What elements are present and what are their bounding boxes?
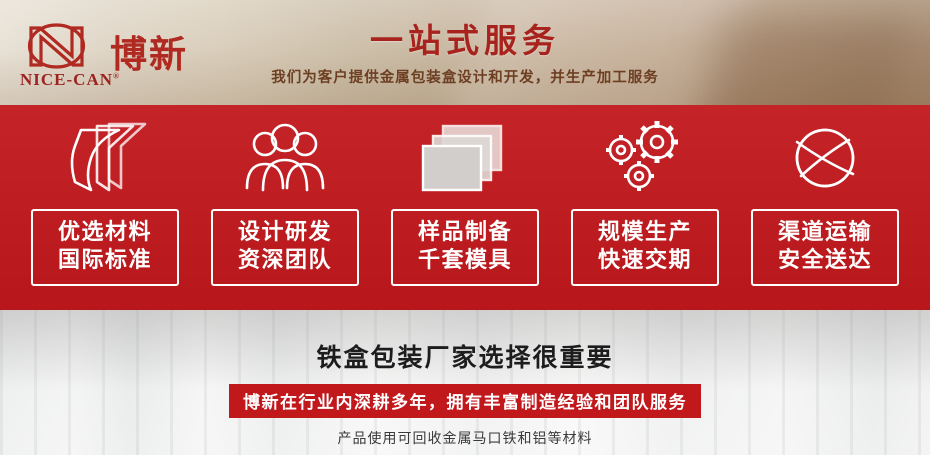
footer-highlight-badge: 博新在行业内深耕多年，拥有丰富制造经验和团队服务: [229, 384, 701, 418]
feature-label-line1: 样品制备: [393, 219, 537, 247]
promo-banner: NICE-CAN® 博新 一站式服务 我们为客户提供金属包装盒设计和开发，并生产…: [0, 0, 930, 455]
feature-item[interactable]: 设计研发 资深团队: [204, 105, 366, 310]
footer-highlight-wrap: 博新在行业内深耕多年，拥有丰富制造经验和团队服务: [0, 384, 930, 418]
feature-item[interactable]: 规模生产 快速交期: [564, 105, 726, 310]
banner-subtitle: 我们为客户提供金属包装盒设计和开发，并生产加工服务: [0, 66, 930, 87]
feature-label-line1: 优选材料: [33, 219, 177, 247]
banner-title: 一站式服务: [0, 14, 930, 62]
feature-label: 优选材料 国际标准: [31, 209, 179, 286]
feature-label: 渠道运输 安全送达: [751, 209, 899, 286]
feature-item[interactable]: 样品制备 千套模具: [384, 105, 546, 310]
feature-label-line2: 国际标准: [33, 247, 177, 275]
feature-label: 样品制备 千套模具: [391, 209, 539, 286]
team-people-icon: [237, 109, 333, 209]
stacked-sheets-icon: [57, 109, 153, 209]
globe-delivery-icon: [777, 109, 873, 209]
features-band: 优选材料 国际标准: [0, 105, 930, 310]
footer-band: 铁盒包装厂家选择很重要 博新在行业内深耕多年，拥有丰富制造经验和团队服务 产品使…: [0, 310, 930, 455]
feature-label: 设计研发 资深团队: [211, 209, 359, 286]
stacked-boxes-icon: [413, 109, 517, 209]
feature-label-line2: 资深团队: [213, 247, 357, 275]
header-band: NICE-CAN® 博新 一站式服务 我们为客户提供金属包装盒设计和开发，并生产…: [0, 0, 930, 105]
feature-label-line2: 快速交期: [573, 247, 717, 275]
feature-label-line2: 千套模具: [393, 247, 537, 275]
features-row: 优选材料 国际标准: [0, 105, 930, 310]
footer-note: 产品使用可回收金属马口铁和铝等材料: [0, 428, 930, 448]
feature-label-line2: 安全送达: [753, 247, 897, 275]
feature-label-line1: 规模生产: [573, 219, 717, 247]
feature-label-line1: 设计研发: [213, 219, 357, 247]
gears-icon: [595, 109, 695, 209]
footer-title: 铁盒包装厂家选择很重要: [0, 338, 930, 374]
feature-item[interactable]: 渠道运输 安全送达: [744, 105, 906, 310]
feature-label: 规模生产 快速交期: [571, 209, 719, 286]
feature-item[interactable]: 优选材料 国际标准: [24, 105, 186, 310]
feature-label-line1: 渠道运输: [753, 219, 897, 247]
